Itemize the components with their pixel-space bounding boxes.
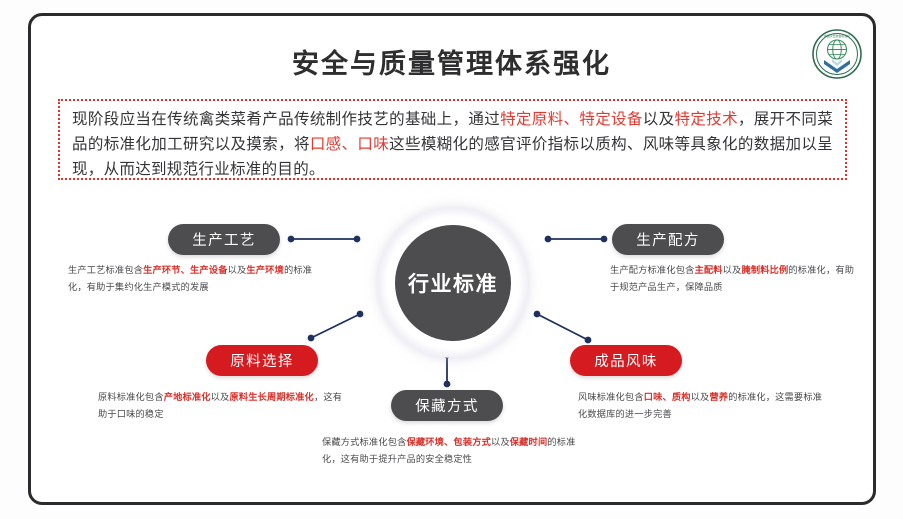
node-description-raw-material-selection: 原料标准化包含产地标准化以及原料生长周期标准化，这有助于口味的稳定 bbox=[98, 389, 348, 423]
highlighted-text: 生产环节、生产设备 bbox=[143, 265, 228, 275]
slide-canvas: 中国烹饪协会标准化 安全与质量管理体系强化 现阶段应当在传统禽类菜肴产品传统制作… bbox=[0, 0, 903, 519]
highlighted-text: 营养 bbox=[709, 392, 728, 402]
node-pill-production-technology[interactable]: 生产工艺 bbox=[168, 224, 280, 255]
highlighted-text: 产地标准化 bbox=[164, 392, 211, 402]
node-pill-production-formula[interactable]: 生产配方 bbox=[612, 224, 724, 255]
highlighted-text: 原料生长周期标准化 bbox=[229, 392, 314, 402]
body-text: 以及 bbox=[723, 265, 742, 275]
body-text: 以及 bbox=[211, 392, 230, 402]
node-label: 生产配方 bbox=[636, 229, 700, 250]
highlighted-text: 生产环境 bbox=[246, 265, 284, 275]
node-description-production-technology: 生产工艺标准包含生产环节、生产设备以及生产环境的标准化，有助于集约化生产模式的发… bbox=[68, 262, 313, 296]
body-text: 以及 bbox=[491, 437, 510, 447]
body-text: 现阶段应当在传统禽类菜肴产品传统制作技艺的基础上，通过 bbox=[72, 111, 500, 128]
svg-text:中国烹饪协会标准化: 中国烹饪协会标准化 bbox=[824, 33, 850, 38]
body-text: 以及 bbox=[691, 392, 710, 402]
highlighted-text: 特定技术 bbox=[675, 111, 738, 128]
node-pill-raw-material-selection[interactable]: 原料选择 bbox=[206, 345, 318, 376]
node-label: 原料选择 bbox=[230, 350, 294, 371]
highlighted-text: 腌制料比例 bbox=[741, 265, 788, 275]
highlighted-text: 口感、口味 bbox=[310, 136, 389, 153]
body-text: 生产工艺标准包含 bbox=[68, 265, 143, 275]
highlighted-text: 主配料 bbox=[695, 265, 723, 275]
node-description-finished-flavor: 风味标准化包含口味、质构以及营养的标准化，这需要标准化数据库的进一步完善 bbox=[578, 389, 826, 423]
body-text: 生产配方标准化包含 bbox=[610, 265, 695, 275]
highlighted-text: 口味、质构 bbox=[644, 392, 691, 402]
body-text: 风味标准化包含 bbox=[578, 392, 644, 402]
hub-label: 行业标准 bbox=[408, 268, 498, 298]
intro-paragraph-box: 现阶段应当在传统禽类菜肴产品传统制作技艺的基础上，通过特定原料、特定设备以及特定… bbox=[58, 99, 847, 180]
node-description-preservation-method: 保藏方式标准化包含保藏环境、包装方式以及保藏时间的标准化，这有助于提升产品的安全… bbox=[322, 434, 584, 468]
body-text: 保藏方式标准化包含 bbox=[322, 437, 407, 447]
node-label: 生产工艺 bbox=[192, 229, 256, 250]
node-pill-preservation-method[interactable]: 保藏方式 bbox=[391, 390, 503, 421]
highlighted-text: 保藏时间 bbox=[510, 437, 548, 447]
body-text: 原料标准化包含 bbox=[98, 392, 164, 402]
node-pill-finished-flavor[interactable]: 成品风味 bbox=[570, 345, 682, 376]
page-title: 安全与质量管理体系强化 bbox=[0, 42, 903, 81]
node-label: 成品风味 bbox=[594, 350, 658, 371]
body-text: 以及 bbox=[228, 265, 247, 275]
highlighted-text: 保藏环境、包装方式 bbox=[407, 437, 492, 447]
intro-paragraph-text: 现阶段应当在传统禽类菜肴产品传统制作技艺的基础上，通过特定原料、特定设备以及特定… bbox=[72, 107, 833, 182]
hub-circle: 行业标准 bbox=[395, 225, 511, 341]
body-text: 以及 bbox=[643, 111, 675, 128]
node-label: 保藏方式 bbox=[415, 395, 479, 416]
node-description-production-formula: 生产配方标准化包含主配料以及腌制料比例的标准化，有助于规范产品生产，保障品质 bbox=[610, 262, 860, 296]
highlighted-text: 特定原料、特定设备 bbox=[500, 111, 643, 128]
